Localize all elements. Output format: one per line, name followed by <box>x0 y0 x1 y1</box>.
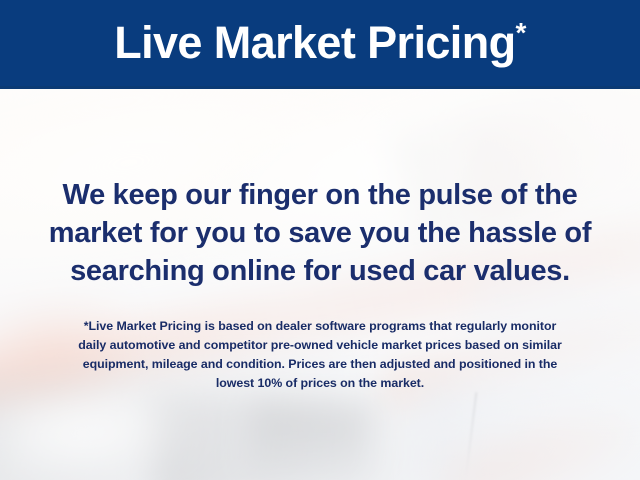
headline-line-1: We keep our finger on the pulse of the <box>26 176 614 214</box>
live-market-pricing-card: Live Market Pricing* We keep our finger … <box>0 0 640 480</box>
disclaimer-line-2: daily automotive and competitor pre-owne… <box>22 336 618 355</box>
footnote-asterisk: * <box>515 17 525 48</box>
disclaimer-line-3: equipment, mileage and condition. Prices… <box>22 355 618 374</box>
headline-line-3: searching online for used car values. <box>26 252 614 290</box>
content-area: We keep our finger on the pulse of the m… <box>0 89 640 480</box>
headline-line-2: market for you to save you the hassle of <box>26 214 614 252</box>
page-title-text: Live Market Pricing <box>114 17 515 68</box>
disclaimer-text: *Live Market Pricing is based on dealer … <box>22 317 618 393</box>
disclaimer-line-4: lowest 10% of prices on the market. <box>22 374 618 393</box>
headline: We keep our finger on the pulse of the m… <box>26 176 614 290</box>
page-title: Live Market Pricing* <box>114 20 526 67</box>
disclaimer-line-1: *Live Market Pricing is based on dealer … <box>22 317 618 336</box>
header-banner: Live Market Pricing* <box>0 0 640 89</box>
